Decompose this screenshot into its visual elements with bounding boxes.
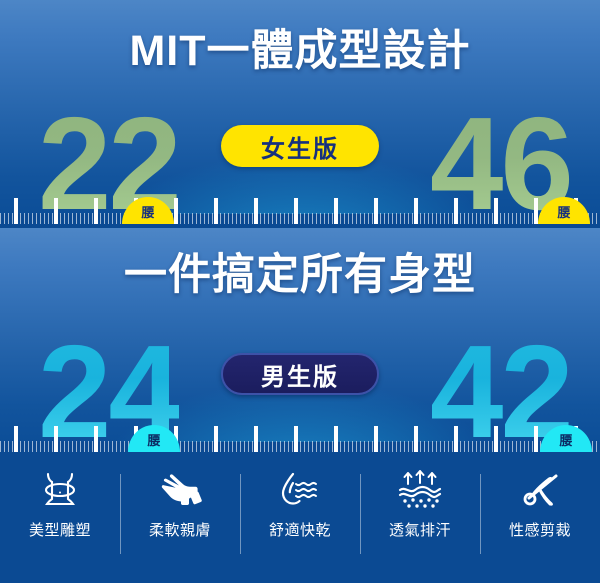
page-title-secondary: 一件搞定所有身型 — [0, 250, 600, 300]
badge-women[interactable]: 女生版 — [221, 125, 379, 167]
hand-icon — [154, 470, 206, 510]
ruler-men: 腰 腰 — [0, 426, 600, 456]
feature-item-soft-touch: 柔軟親膚 — [120, 470, 240, 540]
feature-bar: 美型雕塑 柔軟親膚 舒適快乾 — [0, 456, 600, 583]
corset-icon — [34, 470, 86, 510]
feature-item-body-shaping: 美型雕塑 — [0, 470, 120, 540]
feature-item-breathable: 透氣排汗 — [360, 470, 480, 540]
page-title-primary: MIT一體成型設計 — [0, 26, 600, 76]
feature-label: 性感剪裁 — [509, 519, 571, 540]
promo-poster: MIT一體成型設計 22 46 女生版 腰 腰 一件搞定所有身型 24 42 男… — [0, 0, 600, 583]
breathable-icon — [394, 470, 446, 510]
feature-label: 舒適快乾 — [269, 519, 331, 540]
feature-item-quick-dry: 舒適快乾 — [240, 470, 360, 540]
feature-label: 透氣排汗 — [389, 519, 451, 540]
water-drop-icon — [274, 470, 326, 510]
feature-label: 柔軟親膚 — [149, 519, 211, 540]
feature-item-sexy-cut: 性感剪裁 — [480, 470, 600, 540]
ruler-women: 腰 腰 — [0, 198, 600, 228]
ruler-major-ticks — [0, 426, 600, 452]
badge-men[interactable]: 男生版 — [221, 353, 379, 395]
scissors-icon — [514, 470, 566, 510]
feature-label: 美型雕塑 — [29, 519, 91, 540]
ruler-major-ticks — [0, 198, 600, 224]
